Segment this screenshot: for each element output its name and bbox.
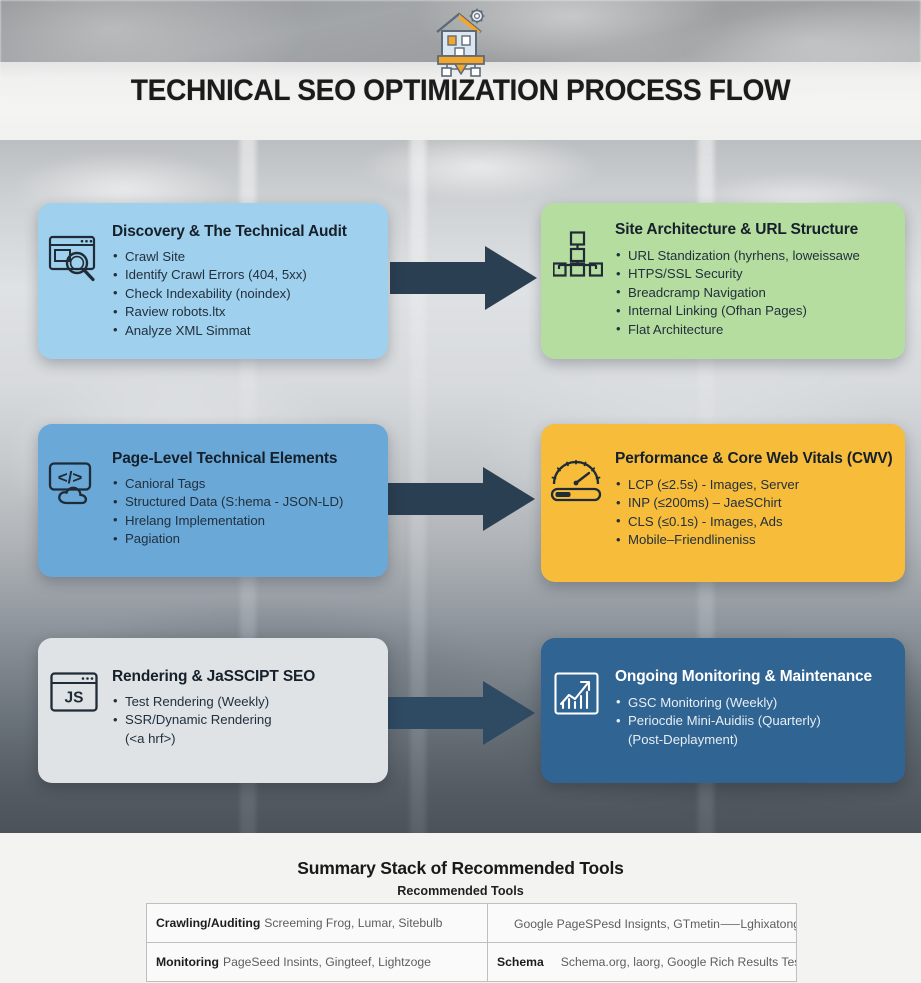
card-page-level-technical-elements[interactable]: </> Page-Level Technical Elements Canior… bbox=[38, 424, 388, 577]
card-bullet-list: GSC Monitoring (Weekly) Periocdie Mini-A… bbox=[615, 694, 893, 750]
card-title: Page-Level Technical Elements bbox=[112, 450, 376, 469]
card-bullet-list: URL Standization (hyrhens, loweissawe HT… bbox=[615, 247, 893, 340]
infographic-page: TECHNICAL SEO OPTIMIZATION PROCESS FLOW bbox=[0, 0, 921, 983]
cell-key: Crawling/Auditing bbox=[156, 916, 260, 930]
footer-section: Summary Stack of Recommended Tools Recom… bbox=[0, 833, 921, 983]
card-icon-slot: JS bbox=[38, 638, 112, 714]
js-browser-icon: JS bbox=[50, 672, 100, 714]
table-cell-monitoring: MonitoringPageSeed Insints, Gingteef, Li… bbox=[147, 943, 488, 982]
list-item: Crawl Site bbox=[112, 248, 376, 267]
cell-key: Schema bbox=[497, 955, 544, 969]
code-cloud-icon: </> bbox=[48, 462, 102, 506]
list-item: Check Indexability (noindex) bbox=[112, 285, 376, 304]
svg-text:JS: JS bbox=[65, 690, 84, 707]
svg-text:</>: </> bbox=[58, 468, 83, 487]
flow-arrow-row-1 bbox=[390, 245, 537, 311]
footer-subtitle: Recommended Tools bbox=[0, 884, 921, 898]
list-item: URL Standization (hyrhens, loweissawe bbox=[615, 247, 893, 266]
list-item: Flat Architecture bbox=[615, 321, 893, 340]
list-item: Mobile–Friendlineniss bbox=[615, 531, 893, 550]
list-item: Breadcramp Navigation bbox=[615, 284, 893, 303]
cell-value: Screeming Frog, Lumar, Sitebulb bbox=[264, 916, 442, 930]
list-item: Test Rendering (Weekly) bbox=[112, 693, 376, 712]
card-bullet-list: Test Rendering (Weekly) SSR/Dynamic Rend… bbox=[112, 693, 376, 749]
table-cell-schema: SchemaSchema.org, laorg, Google Rich Res… bbox=[488, 943, 797, 982]
list-item-continuation: (Post-Deplayment) bbox=[615, 731, 893, 750]
card-discovery-technical-audit[interactable]: Discovery & The Technical Audit Crawl Si… bbox=[38, 203, 388, 359]
list-item: Identify Crawl Errors (404, 5xx) bbox=[112, 266, 376, 285]
card-title: Ongoing Monitoring & Maintenance bbox=[615, 668, 893, 687]
list-item: Internal Linking (Ofhan Pages) bbox=[615, 302, 893, 321]
card-bullet-list: Canioral Tags Structured Data (S:hema - … bbox=[112, 475, 376, 549]
table-cell-performance-tools: Google PageSPesd Insignts, GTmetin⸺Lghix… bbox=[488, 904, 797, 943]
card-icon-slot bbox=[38, 203, 112, 283]
card-bullet-list: Crawl Site Identify Crawl Errors (404, 5… bbox=[112, 248, 376, 341]
recommended-tools-table: Crawling/AuditingScreeming Frog, Lumar, … bbox=[146, 903, 797, 982]
list-item: Analyze XML Simmat bbox=[112, 322, 376, 341]
browser-magnifier-icon bbox=[48, 235, 102, 283]
list-item: Canioral Tags bbox=[112, 475, 376, 494]
cell-key: Monitoring bbox=[156, 955, 219, 969]
list-item: INP (≤200ms) – JaeSChirt bbox=[615, 494, 893, 513]
table-row: Crawling/AuditingScreeming Frog, Lumar, … bbox=[147, 904, 797, 943]
footer-title: Summary Stack of Recommended Tools bbox=[0, 858, 921, 879]
list-item: SSR/Dynamic Rendering bbox=[112, 711, 376, 730]
list-item: Hrelang Implementation bbox=[112, 512, 376, 531]
card-ongoing-monitoring-maintenance[interactable]: Ongoing Monitoring & Maintenance GSC Mon… bbox=[541, 638, 905, 783]
card-icon-slot: </> bbox=[38, 424, 112, 506]
card-icon-slot bbox=[541, 203, 615, 277]
card-title: Site Architecture & URL Structure bbox=[615, 221, 893, 240]
list-item: GSC Monitoring (Weekly) bbox=[615, 694, 893, 713]
header-band: TECHNICAL SEO OPTIMIZATION PROCESS FLOW bbox=[0, 0, 921, 140]
growth-chart-icon bbox=[554, 672, 602, 716]
card-title: Discovery & The Technical Audit bbox=[112, 223, 376, 242]
list-item: Structured Data (S:hema - JSON-LD) bbox=[112, 493, 376, 512]
flow-arrow-row-3 bbox=[388, 680, 535, 746]
card-rendering-javascript-seo[interactable]: JS Rendering & JaSSCIPT SEO Test Renderi… bbox=[38, 638, 388, 783]
card-icon-slot bbox=[541, 424, 615, 504]
table-cell-crawling-auditing: Crawling/AuditingScreeming Frog, Lumar, … bbox=[147, 904, 488, 943]
list-item: HTPS/SSL Security bbox=[615, 265, 893, 284]
list-item-continuation: (<a hrf>) bbox=[112, 730, 376, 749]
card-icon-slot bbox=[541, 638, 615, 716]
sitemap-hierarchy-icon bbox=[553, 231, 603, 277]
card-performance-core-web-vitals[interactable]: Performance & Core Web Vitals (CWV) LCP … bbox=[541, 424, 905, 582]
card-bullet-list: LCP (≤2.5s) - Images, Server INP (≤200ms… bbox=[615, 476, 893, 550]
list-item: Pagiation bbox=[112, 530, 376, 549]
list-item: Periocdie Mini-Auidiis (Quarterly) bbox=[615, 712, 893, 731]
cell-value: Google PageSPesd Insignts, GTmetin⸺Lghix… bbox=[514, 917, 797, 931]
speedometer-gauge-icon bbox=[550, 460, 606, 504]
list-item: Raview robots.ltx bbox=[112, 303, 376, 322]
list-item: CLS (≤0.1s) - Images, Ads bbox=[615, 513, 893, 532]
cell-value: Schema.org, laorg, Google Rich Results T… bbox=[561, 955, 797, 969]
card-site-architecture-url-structure[interactable]: Site Architecture & URL Structure URL St… bbox=[541, 203, 905, 359]
table-row: MonitoringPageSeed Insints, Gingteef, Li… bbox=[147, 943, 797, 982]
card-title: Performance & Core Web Vitals (CWV) bbox=[615, 450, 893, 469]
page-title: TECHNICAL SEO OPTIMIZATION PROCESS FLOW bbox=[28, 74, 894, 108]
card-title: Rendering & JaSSCIPT SEO bbox=[112, 668, 376, 687]
list-item: LCP (≤2.5s) - Images, Server bbox=[615, 476, 893, 495]
cell-value: PageSeed Insints, Gingteef, Lightzoge bbox=[223, 955, 431, 969]
house-with-gear-flowchart-icon bbox=[425, 6, 497, 78]
flow-arrow-row-2 bbox=[388, 466, 535, 532]
